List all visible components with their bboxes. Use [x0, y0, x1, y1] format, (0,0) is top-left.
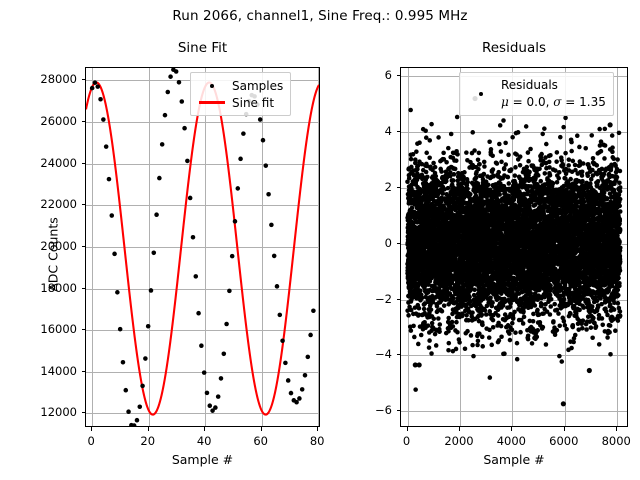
residual-point: [464, 150, 469, 155]
sample-point: [121, 360, 126, 365]
sample-point: [278, 313, 283, 318]
residual-point: [470, 130, 475, 135]
residual-point: [472, 287, 477, 292]
residual-point: [513, 173, 518, 178]
sample-point: [230, 254, 235, 259]
residual-point: [497, 338, 502, 343]
residual-point: [516, 130, 521, 135]
x-tick-label: 60: [253, 434, 268, 448]
y-tick-mark: [82, 79, 86, 80]
y-tick-label: 16000: [0, 322, 77, 336]
residual-point: [410, 206, 415, 211]
sample-point: [126, 409, 131, 414]
residual-point: [449, 132, 454, 137]
residual-point: [487, 328, 492, 333]
y-tick-label: 24000: [0, 156, 77, 170]
residual-point: [499, 160, 504, 165]
sample-point: [191, 235, 196, 240]
residual-point: [451, 324, 456, 329]
residual-point: [522, 315, 527, 320]
residual-point: [515, 357, 520, 362]
residual-point: [424, 170, 429, 175]
sample-point: [93, 80, 98, 85]
residual-point: [499, 334, 504, 339]
residual-point: [509, 167, 514, 172]
residual-point: [489, 343, 494, 348]
residual-point: [434, 343, 439, 348]
residual-point: [518, 330, 523, 335]
residual-point: [513, 165, 518, 170]
residual-point: [480, 323, 485, 328]
residual-point: [457, 340, 462, 345]
x-tick-label: 80: [310, 434, 325, 448]
x-tick-mark: [261, 427, 262, 431]
residual-point: [491, 325, 496, 330]
sample-point: [168, 74, 173, 79]
residual-point: [409, 308, 414, 313]
residual-point: [451, 296, 456, 301]
residual-point: [414, 149, 419, 154]
sample-point: [275, 284, 280, 289]
residual-point: [409, 157, 414, 162]
residual-point: [411, 324, 416, 329]
residual-point: [531, 319, 536, 324]
sample-point: [104, 144, 109, 149]
sample-point: [95, 84, 100, 89]
samples-marker-icon: [197, 84, 227, 88]
residual-point: [475, 343, 480, 348]
residual-point: [495, 161, 500, 166]
sample-point: [140, 384, 145, 389]
residual-point: [455, 330, 460, 335]
residual-point: [468, 192, 473, 197]
residual-point: [496, 313, 501, 318]
residual-point: [476, 157, 481, 162]
residual-point: [491, 318, 496, 323]
residual-point: [454, 347, 459, 352]
sample-point: [280, 338, 285, 343]
residual-point: [477, 162, 482, 167]
sample-point: [213, 405, 218, 410]
residual-point: [427, 138, 432, 143]
residual-point: [510, 327, 515, 332]
residual-point: [506, 153, 511, 158]
residual-point: [496, 170, 501, 175]
sample-point: [269, 223, 274, 228]
sample-point: [118, 327, 123, 332]
residual-point: [452, 172, 457, 177]
residual-point: [454, 158, 459, 163]
x-tick-mark: [91, 427, 92, 431]
sample-point: [272, 254, 277, 259]
sample-point: [241, 131, 246, 136]
right-panel-title: Residuals: [400, 40, 628, 56]
sample-point: [294, 400, 299, 405]
sample-point: [258, 117, 263, 122]
sample-point: [308, 333, 313, 338]
sine-fit-curve: [86, 82, 319, 414]
residual-point: [442, 303, 447, 308]
residual-point: [526, 333, 531, 338]
residual-point: [510, 135, 515, 140]
residual-point: [527, 170, 532, 175]
sample-point: [107, 177, 112, 182]
sample-point: [227, 289, 232, 294]
residual-point: [506, 181, 511, 186]
sample-point: [286, 378, 291, 383]
residual-point: [513, 330, 518, 335]
residual-point: [499, 324, 504, 329]
sample-point: [306, 355, 311, 360]
sample-point: [219, 376, 224, 381]
sample-point: [185, 159, 190, 164]
residual-point: [423, 129, 428, 134]
residual-point: [490, 153, 495, 158]
residual-point: [501, 118, 506, 123]
x-tick-mark: [204, 427, 205, 431]
residual-point: [417, 140, 422, 145]
residual-point: [503, 141, 508, 146]
y-tick-mark: [82, 288, 86, 289]
sample-point: [182, 126, 187, 131]
residual-point: [480, 335, 485, 340]
residual-point: [408, 108, 413, 113]
y-tick-label: 28000: [0, 72, 77, 86]
residual-point: [482, 172, 487, 177]
sample-point: [222, 351, 227, 356]
sample-point: [123, 388, 128, 393]
residual-point: [497, 142, 502, 147]
residual-point: [429, 351, 434, 356]
y-tick-mark: [82, 163, 86, 164]
residual-point: [476, 167, 481, 172]
residual-point: [426, 323, 431, 328]
residual-point: [418, 288, 423, 293]
residual-point: [482, 160, 487, 165]
residual-point: [407, 176, 412, 181]
sample-point: [163, 113, 168, 118]
residual-point: [524, 165, 529, 170]
sample-point: [109, 213, 114, 218]
residual-point: [429, 122, 434, 127]
residual-point: [453, 167, 458, 172]
residual-point: [518, 154, 523, 159]
residual-point: [521, 309, 526, 314]
sine-fit-plot-area: [86, 68, 319, 426]
residuals-plot-area: [401, 68, 627, 426]
y-tick-label: 14000: [0, 364, 77, 378]
residual-point: [465, 180, 470, 185]
residual-point: [429, 307, 434, 312]
residual-point: [422, 307, 427, 312]
residual-point: [419, 333, 424, 338]
sample-point: [135, 418, 140, 423]
residual-point: [489, 147, 494, 152]
x-tick-mark: [317, 427, 318, 431]
sample-point: [261, 138, 266, 143]
y-tick-label: 18000: [0, 281, 77, 295]
sine-fit-line-icon: [197, 101, 227, 103]
residual-point: [425, 175, 430, 180]
residual-point: [440, 309, 445, 314]
sample-point: [300, 387, 305, 392]
residual-point: [427, 345, 432, 350]
residual-point: [420, 296, 425, 301]
sample-point: [177, 80, 182, 85]
sample-point: [233, 219, 238, 224]
residual-point: [470, 310, 475, 315]
sample-point: [216, 394, 221, 399]
residuals-axes: Residuals μ = 0.0, σ = 1.35: [400, 67, 628, 427]
residual-point: [427, 155, 432, 160]
sample-point: [98, 97, 103, 102]
y-tick-label: 12000: [0, 405, 77, 419]
y-tick-label: 26000: [0, 114, 77, 128]
residual-point: [521, 321, 526, 326]
sine-fit-legend[interactable]: Samples Sine fit: [190, 72, 291, 116]
legend-label-samples: Samples: [227, 79, 283, 93]
residual-point: [406, 313, 411, 318]
residual-point: [469, 333, 474, 338]
residual-point: [463, 346, 468, 351]
sample-point: [283, 361, 288, 366]
residual-point: [499, 149, 504, 154]
residual-point: [508, 338, 513, 343]
sample-point: [236, 186, 241, 191]
x-tick-mark: [148, 427, 149, 431]
sample-point: [101, 117, 106, 122]
x-tick-label: 40: [197, 434, 212, 448]
sample-point: [160, 142, 165, 147]
sample-point: [154, 212, 159, 217]
residual-point: [436, 316, 441, 321]
residual-point: [491, 167, 496, 172]
residual-point: [488, 375, 493, 380]
residual-point: [409, 328, 414, 333]
residual-point: [498, 123, 503, 128]
legend-entry-sine-fit: Sine fit: [197, 94, 283, 111]
residual-point: [446, 316, 451, 321]
residual-point: [477, 151, 482, 156]
residual-point: [436, 135, 441, 140]
residual-point: [465, 186, 470, 191]
sample-point: [188, 196, 193, 201]
residual-point: [487, 335, 492, 340]
residual-point: [476, 339, 481, 344]
sample-point: [297, 396, 302, 401]
residual-point: [480, 344, 485, 349]
legend-label-sine-fit: Sine fit: [227, 96, 274, 110]
residual-point: [433, 165, 438, 170]
sample-point: [165, 90, 170, 95]
sample-point: [238, 157, 243, 162]
sample-point: [264, 163, 269, 168]
left-panel-title: Sine Fit: [85, 40, 320, 56]
legend-entry-samples: Samples: [197, 77, 283, 94]
residual-point: [487, 139, 492, 144]
residual-point: [444, 160, 449, 165]
sample-point: [193, 274, 198, 279]
residual-point: [439, 169, 444, 174]
sample-point: [289, 391, 294, 396]
y-tick-label: 22000: [0, 197, 77, 211]
sample-point: [149, 288, 154, 293]
y-tick-mark: [82, 371, 86, 372]
residual-point: [441, 191, 446, 196]
sample-point: [196, 311, 201, 316]
residual-point: [482, 164, 487, 169]
residual-point: [451, 178, 456, 183]
residual-point: [480, 312, 485, 317]
sample-point: [137, 404, 142, 409]
residual-point: [446, 348, 451, 353]
residual-point: [438, 322, 443, 327]
residual-point: [510, 321, 515, 326]
sample-point: [199, 343, 204, 348]
residual-point: [515, 341, 520, 346]
residual-point: [497, 192, 502, 197]
residual-point: [424, 151, 429, 156]
residual-point: [488, 295, 493, 300]
sample-point: [266, 192, 271, 197]
y-tick-mark: [82, 246, 86, 247]
sample-point: [90, 86, 95, 91]
sample-point: [224, 322, 229, 327]
residual-point: [467, 295, 472, 300]
residual-point: [441, 151, 446, 156]
y-tick-mark: [82, 121, 86, 122]
residual-point: [512, 310, 517, 315]
residual-point: [447, 341, 452, 346]
residual-point: [455, 152, 460, 157]
x-tick-label: 20: [140, 434, 155, 448]
residual-point: [511, 315, 516, 320]
residual-point: [528, 147, 533, 152]
residual-point: [524, 124, 529, 129]
residual-point: [437, 329, 442, 334]
residual-point: [526, 159, 531, 164]
residual-point: [446, 146, 451, 151]
figure-canvas: Run 2066, channel1, Sine Freq.: 0.995 MH…: [0, 0, 640, 480]
residual-point: [413, 157, 418, 162]
sine-fit-axes: Samples Sine fit: [85, 67, 320, 427]
residual-point: [518, 163, 523, 168]
residual-point: [507, 331, 512, 336]
residual-point: [434, 174, 439, 179]
residual-point: [490, 300, 495, 305]
y-tick-label: 20000: [0, 239, 77, 253]
residual-point: [413, 387, 418, 392]
sample-point: [205, 391, 210, 396]
sample-point: [112, 252, 117, 257]
residual-point: [431, 317, 436, 322]
figure-suptitle: Run 2066, channel1, Sine Freq.: 0.995 MH…: [0, 8, 640, 24]
sample-point: [311, 308, 316, 313]
residual-point: [431, 161, 436, 166]
sample-point: [303, 373, 308, 378]
residual-point: [484, 312, 489, 317]
sample-point: [157, 176, 162, 181]
residual-point: [506, 175, 511, 180]
residual-point: [454, 320, 459, 325]
x-tick-label: 0: [88, 434, 95, 448]
sample-point: [115, 290, 120, 295]
residual-point: [486, 182, 491, 187]
sample-point: [146, 324, 151, 329]
residual-point: [470, 343, 475, 348]
residual-point: [471, 354, 476, 359]
y-tick-mark: [82, 412, 86, 413]
sample-point: [207, 403, 212, 408]
residual-point: [462, 170, 467, 175]
residual-point: [472, 148, 477, 153]
residual-point: [412, 335, 417, 340]
residual-point: [417, 306, 422, 311]
residual-point: [483, 308, 488, 313]
sample-point: [179, 99, 184, 104]
y-tick-mark: [82, 204, 86, 205]
sample-point: [202, 370, 207, 375]
residual-point: [530, 341, 535, 346]
sample-point: [151, 251, 156, 256]
y-tick-mark: [82, 329, 86, 330]
residual-point: [427, 338, 432, 343]
residual-point: [450, 320, 455, 325]
residual-point: [502, 351, 507, 356]
residual-point: [503, 162, 508, 167]
sample-point: [143, 356, 148, 361]
sample-point: [174, 69, 179, 74]
residual-point: [416, 342, 421, 347]
residual-point: [465, 329, 470, 334]
residual-point: [474, 175, 479, 180]
